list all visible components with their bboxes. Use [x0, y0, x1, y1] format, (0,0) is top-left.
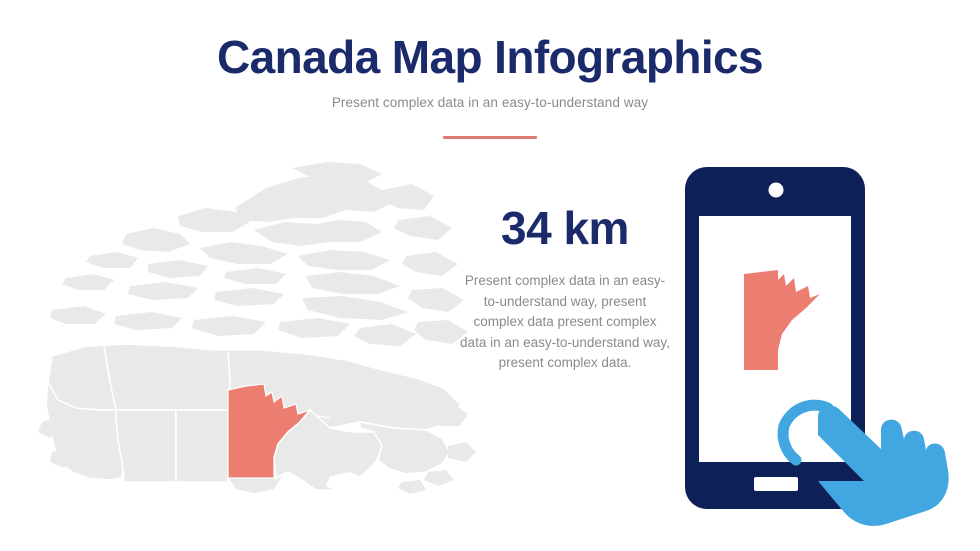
page-title: Canada Map Infographics — [0, 34, 980, 82]
arctic-islands-group — [50, 162, 468, 346]
home-button[interactable] — [754, 477, 798, 491]
phone-illustration[interactable] — [668, 158, 968, 528]
province-alberta — [116, 410, 176, 482]
phone-illustration-svg — [668, 158, 968, 528]
title-divider — [443, 136, 537, 139]
canada-map[interactable] — [30, 160, 490, 510]
stat-description: Present complex data in an easy-to-under… — [455, 271, 675, 374]
camera-dot — [769, 183, 784, 198]
province-saskatchewan — [176, 410, 228, 482]
stat-value: 34 km — [455, 205, 675, 251]
canada-map-svg — [30, 160, 490, 510]
divider-container — [0, 126, 980, 130]
slide-canvas: Canada Map Infographics Present complex … — [0, 0, 980, 551]
header: Canada Map Infographics Present complex … — [0, 34, 980, 130]
stat-block: 34 km Present complex data in an easy-to… — [455, 205, 675, 374]
page-subtitle: Present complex data in an easy-to-under… — [0, 95, 980, 110]
